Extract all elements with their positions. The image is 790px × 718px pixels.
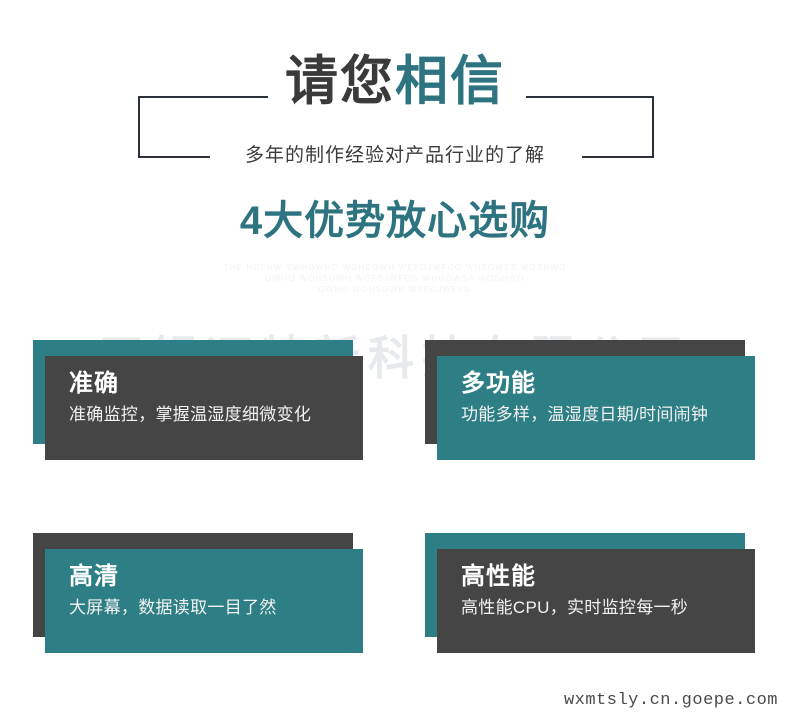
card-description: 功能多样，温湿度日期/时间闹钟 <box>461 404 755 425</box>
card-title: 多功能 <box>461 370 755 398</box>
feature-card-hd-display: 高清 大屏幕，数据读取一目了然 <box>33 533 363 653</box>
promo-banner-page: 请您相信 多年的制作经验对产品行业的了解 4大优势放心选购 THE HOFHW … <box>0 0 790 718</box>
feature-card-multifunction: 多功能 功能多样，温湿度日期/时间闹钟 <box>425 340 755 460</box>
card-front-layer: 高清 大屏幕，数据读取一目了然 <box>45 549 363 653</box>
card-description: 大屏幕，数据读取一目了然 <box>69 597 363 618</box>
card-title: 高清 <box>69 563 363 591</box>
feature-card-accuracy: 准确 准确监控，掌握温湿度细微变化 <box>33 340 363 460</box>
card-title: 高性能 <box>461 563 755 591</box>
card-front-layer: 多功能 功能多样，温湿度日期/时间闹钟 <box>437 356 755 460</box>
card-front-layer: 准确 准确监控，掌握温湿度细微变化 <box>45 356 363 460</box>
card-description: 高性能CPU，实时监控每一秒 <box>461 597 755 618</box>
card-description: 准确监控，掌握温湿度细微变化 <box>69 404 363 425</box>
site-url-watermark: wxmtsly.cn.goepe.com <box>564 691 778 710</box>
page-subtitle: 多年的制作经验对产品行业的了解 <box>0 143 790 170</box>
page-title-part-teal: 相信 <box>395 52 505 111</box>
page-title-part-dark: 请您 <box>285 52 395 111</box>
page-title: 请您相信 <box>0 55 790 108</box>
feature-card-performance: 高性能 高性能CPU，实时监控每一秒 <box>425 533 755 653</box>
card-title: 准确 <box>69 370 363 398</box>
card-front-layer: 高性能 高性能CPU，实时监控每一秒 <box>437 549 755 653</box>
